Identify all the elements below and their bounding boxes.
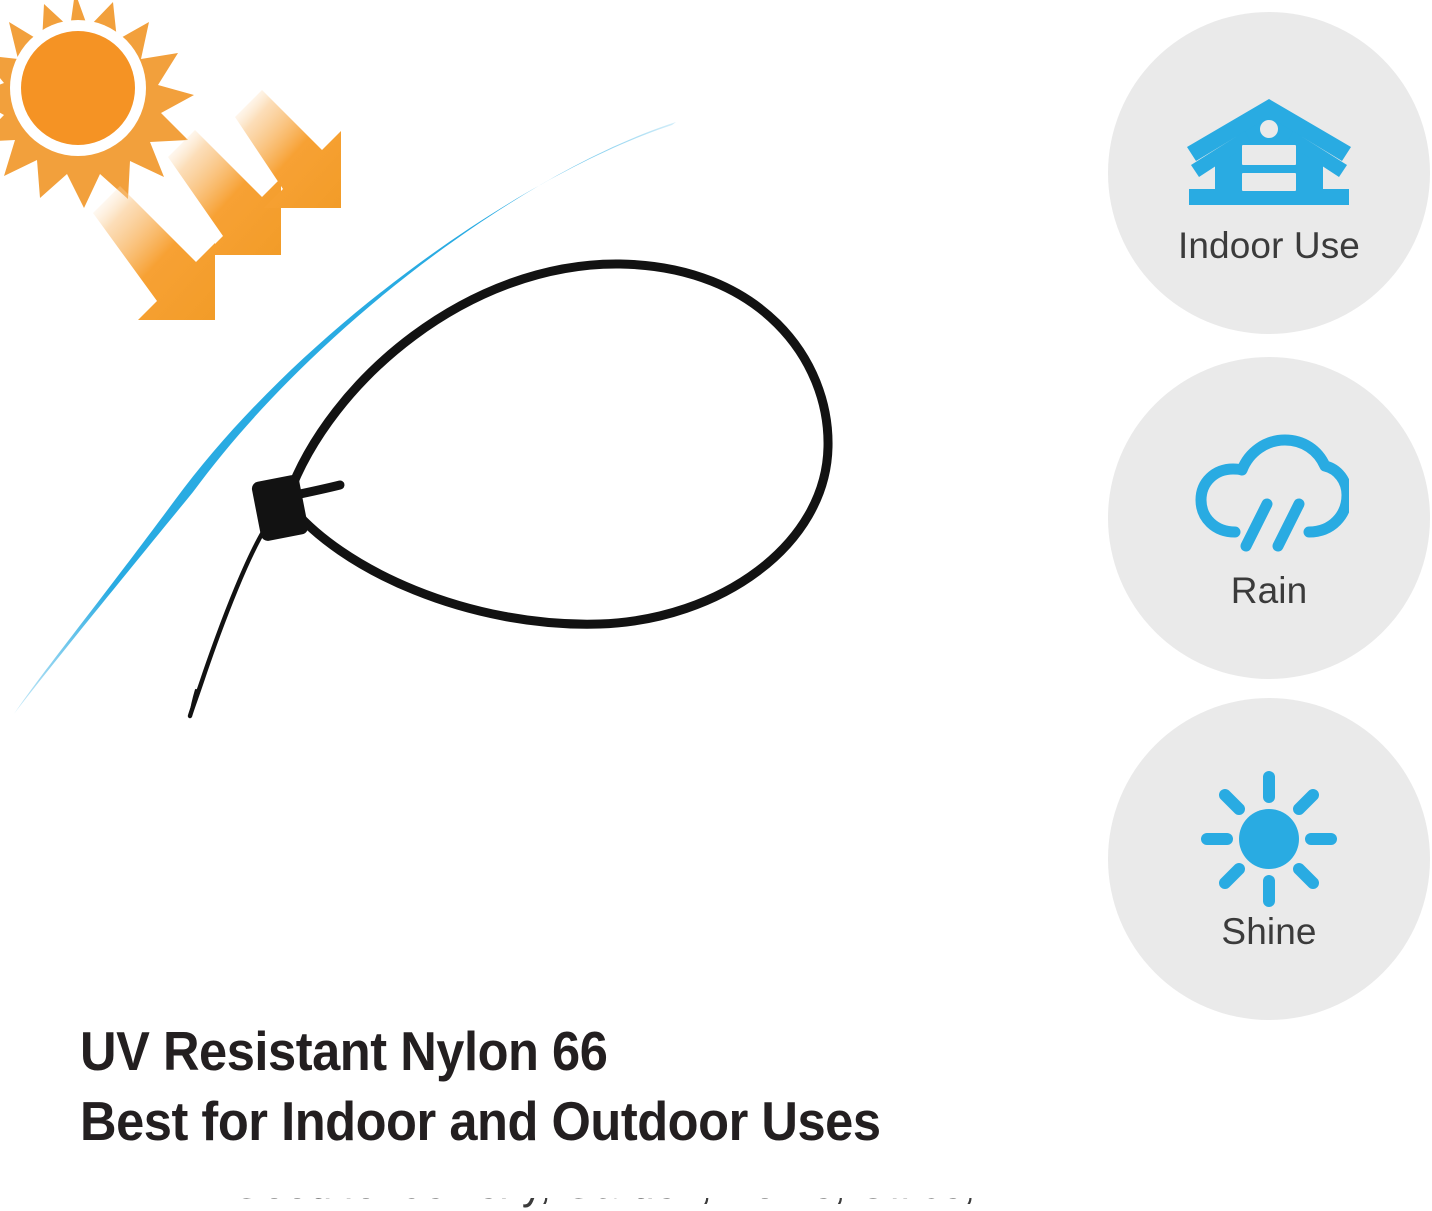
badge-label-rain: Rain [1231,572,1308,609]
house-icon [1184,83,1354,223]
badge-rain[interactable]: Rain [1108,357,1430,679]
badge-label-shine: Shine [1221,913,1316,950]
badge-indoor-use[interactable]: Indoor Use [1108,12,1430,334]
feature-badge-list: Indoor Use Rain [1108,12,1430,1020]
product-feature-graphic: Indoor Use Rain [0,0,1432,1211]
badge-shine[interactable]: Shine [1108,698,1430,1020]
uv-ray-arrow-1 [93,186,215,320]
headline-line-3: Good for Jewelry, Garden, Home, Office, … [230,1198,929,1210]
headline-line-2: Best for Indoor and Outdoor Uses [80,1086,963,1156]
rain-cloud-icon [1184,428,1354,568]
sun-burst-icon [0,0,194,208]
uv-resistance-illustration [0,0,1090,1000]
headline-line-3-cropped: Good for Jewelry, Garden, Home, Office, … [230,1198,990,1211]
headline-line-1: UV Resistant Nylon 66 [80,1016,963,1086]
headline-block: UV Resistant Nylon 66 Best for Indoor an… [80,1016,1040,1156]
cable-tie-loop-icon [190,264,828,717]
sun-shine-icon [1184,769,1354,909]
badge-label-indoor-use: Indoor Use [1178,227,1360,264]
